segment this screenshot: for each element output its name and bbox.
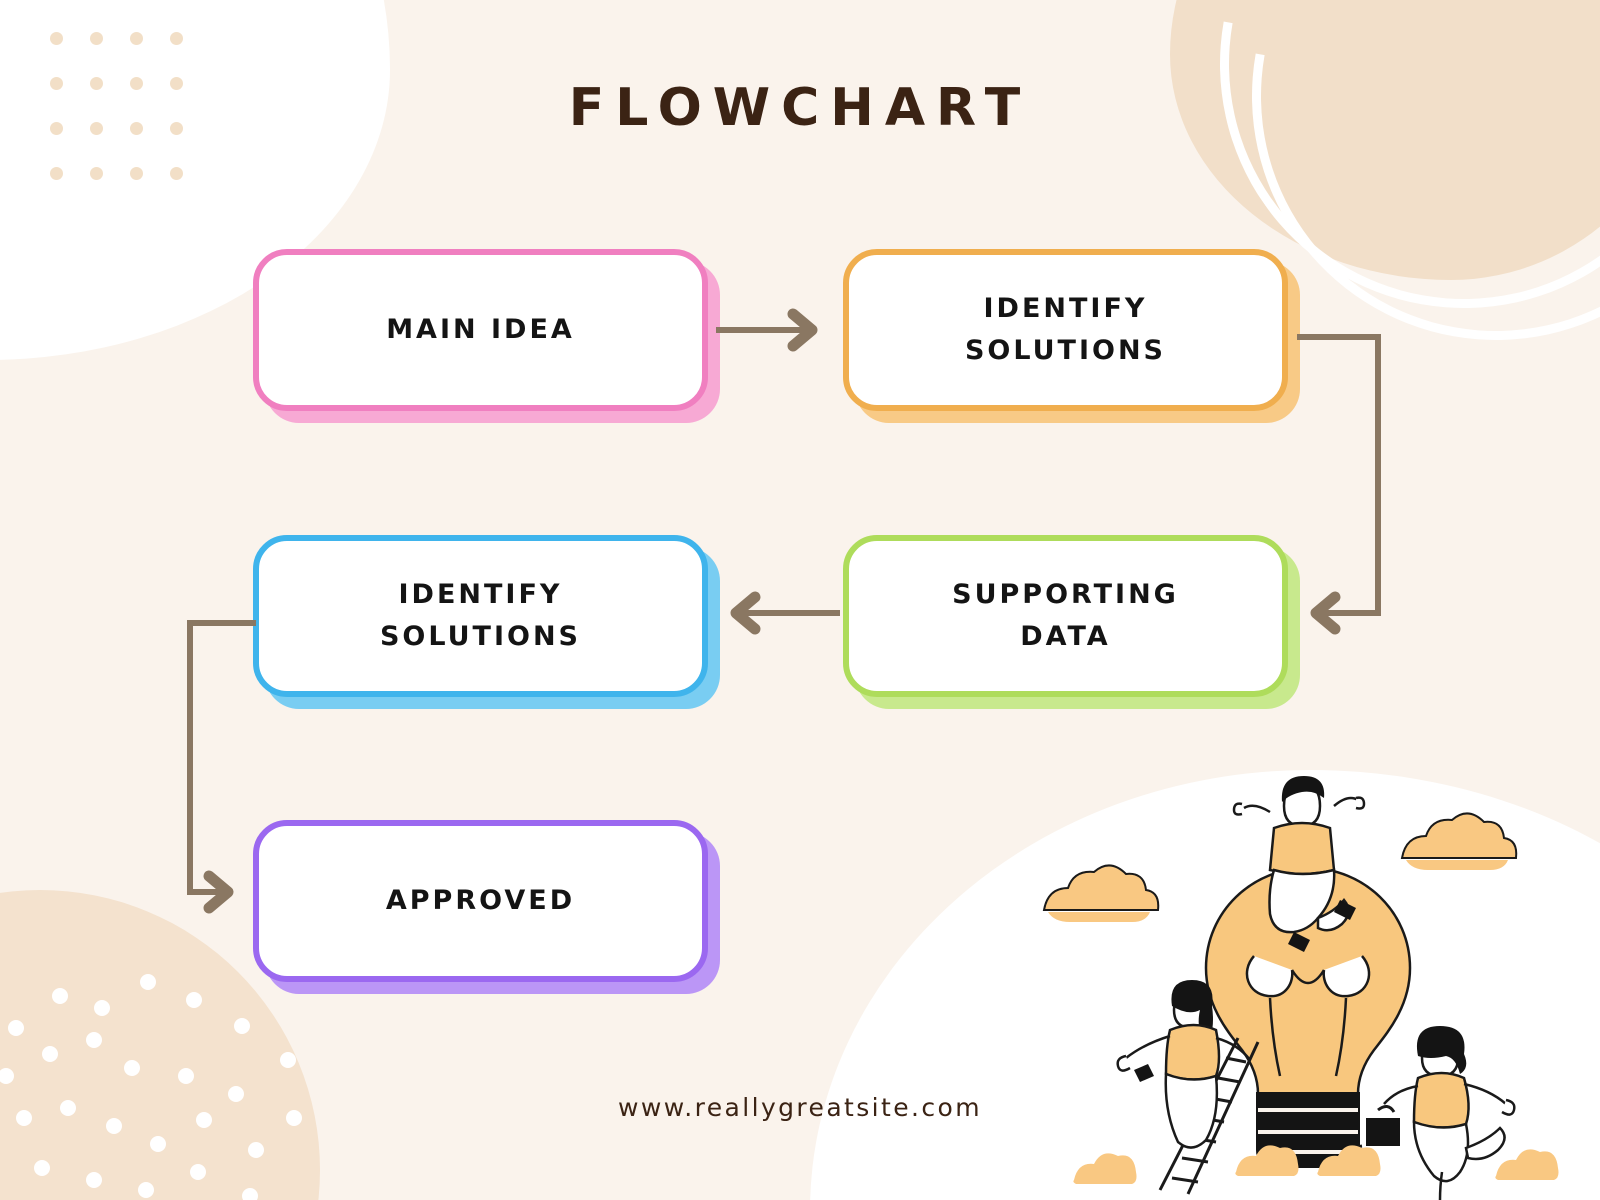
footer-website-url: www.reallygreatsite.com: [0, 1093, 1600, 1122]
lightbulb-teamwork-illustration: [1030, 760, 1590, 1200]
flowchart-poster: FLOWCHART: [0, 0, 1600, 1200]
connector-main-idea-to-identify-solutions: [716, 314, 812, 346]
connector-supporting-data-to-identify-solutions: [736, 597, 840, 629]
connector-identify-solutions-to-approved: [190, 623, 256, 908]
cloud-left-icon: [1044, 865, 1158, 922]
connector-identify-solutions-to-supporting-data: [1297, 337, 1378, 629]
cloud-right-icon: [1402, 813, 1516, 870]
